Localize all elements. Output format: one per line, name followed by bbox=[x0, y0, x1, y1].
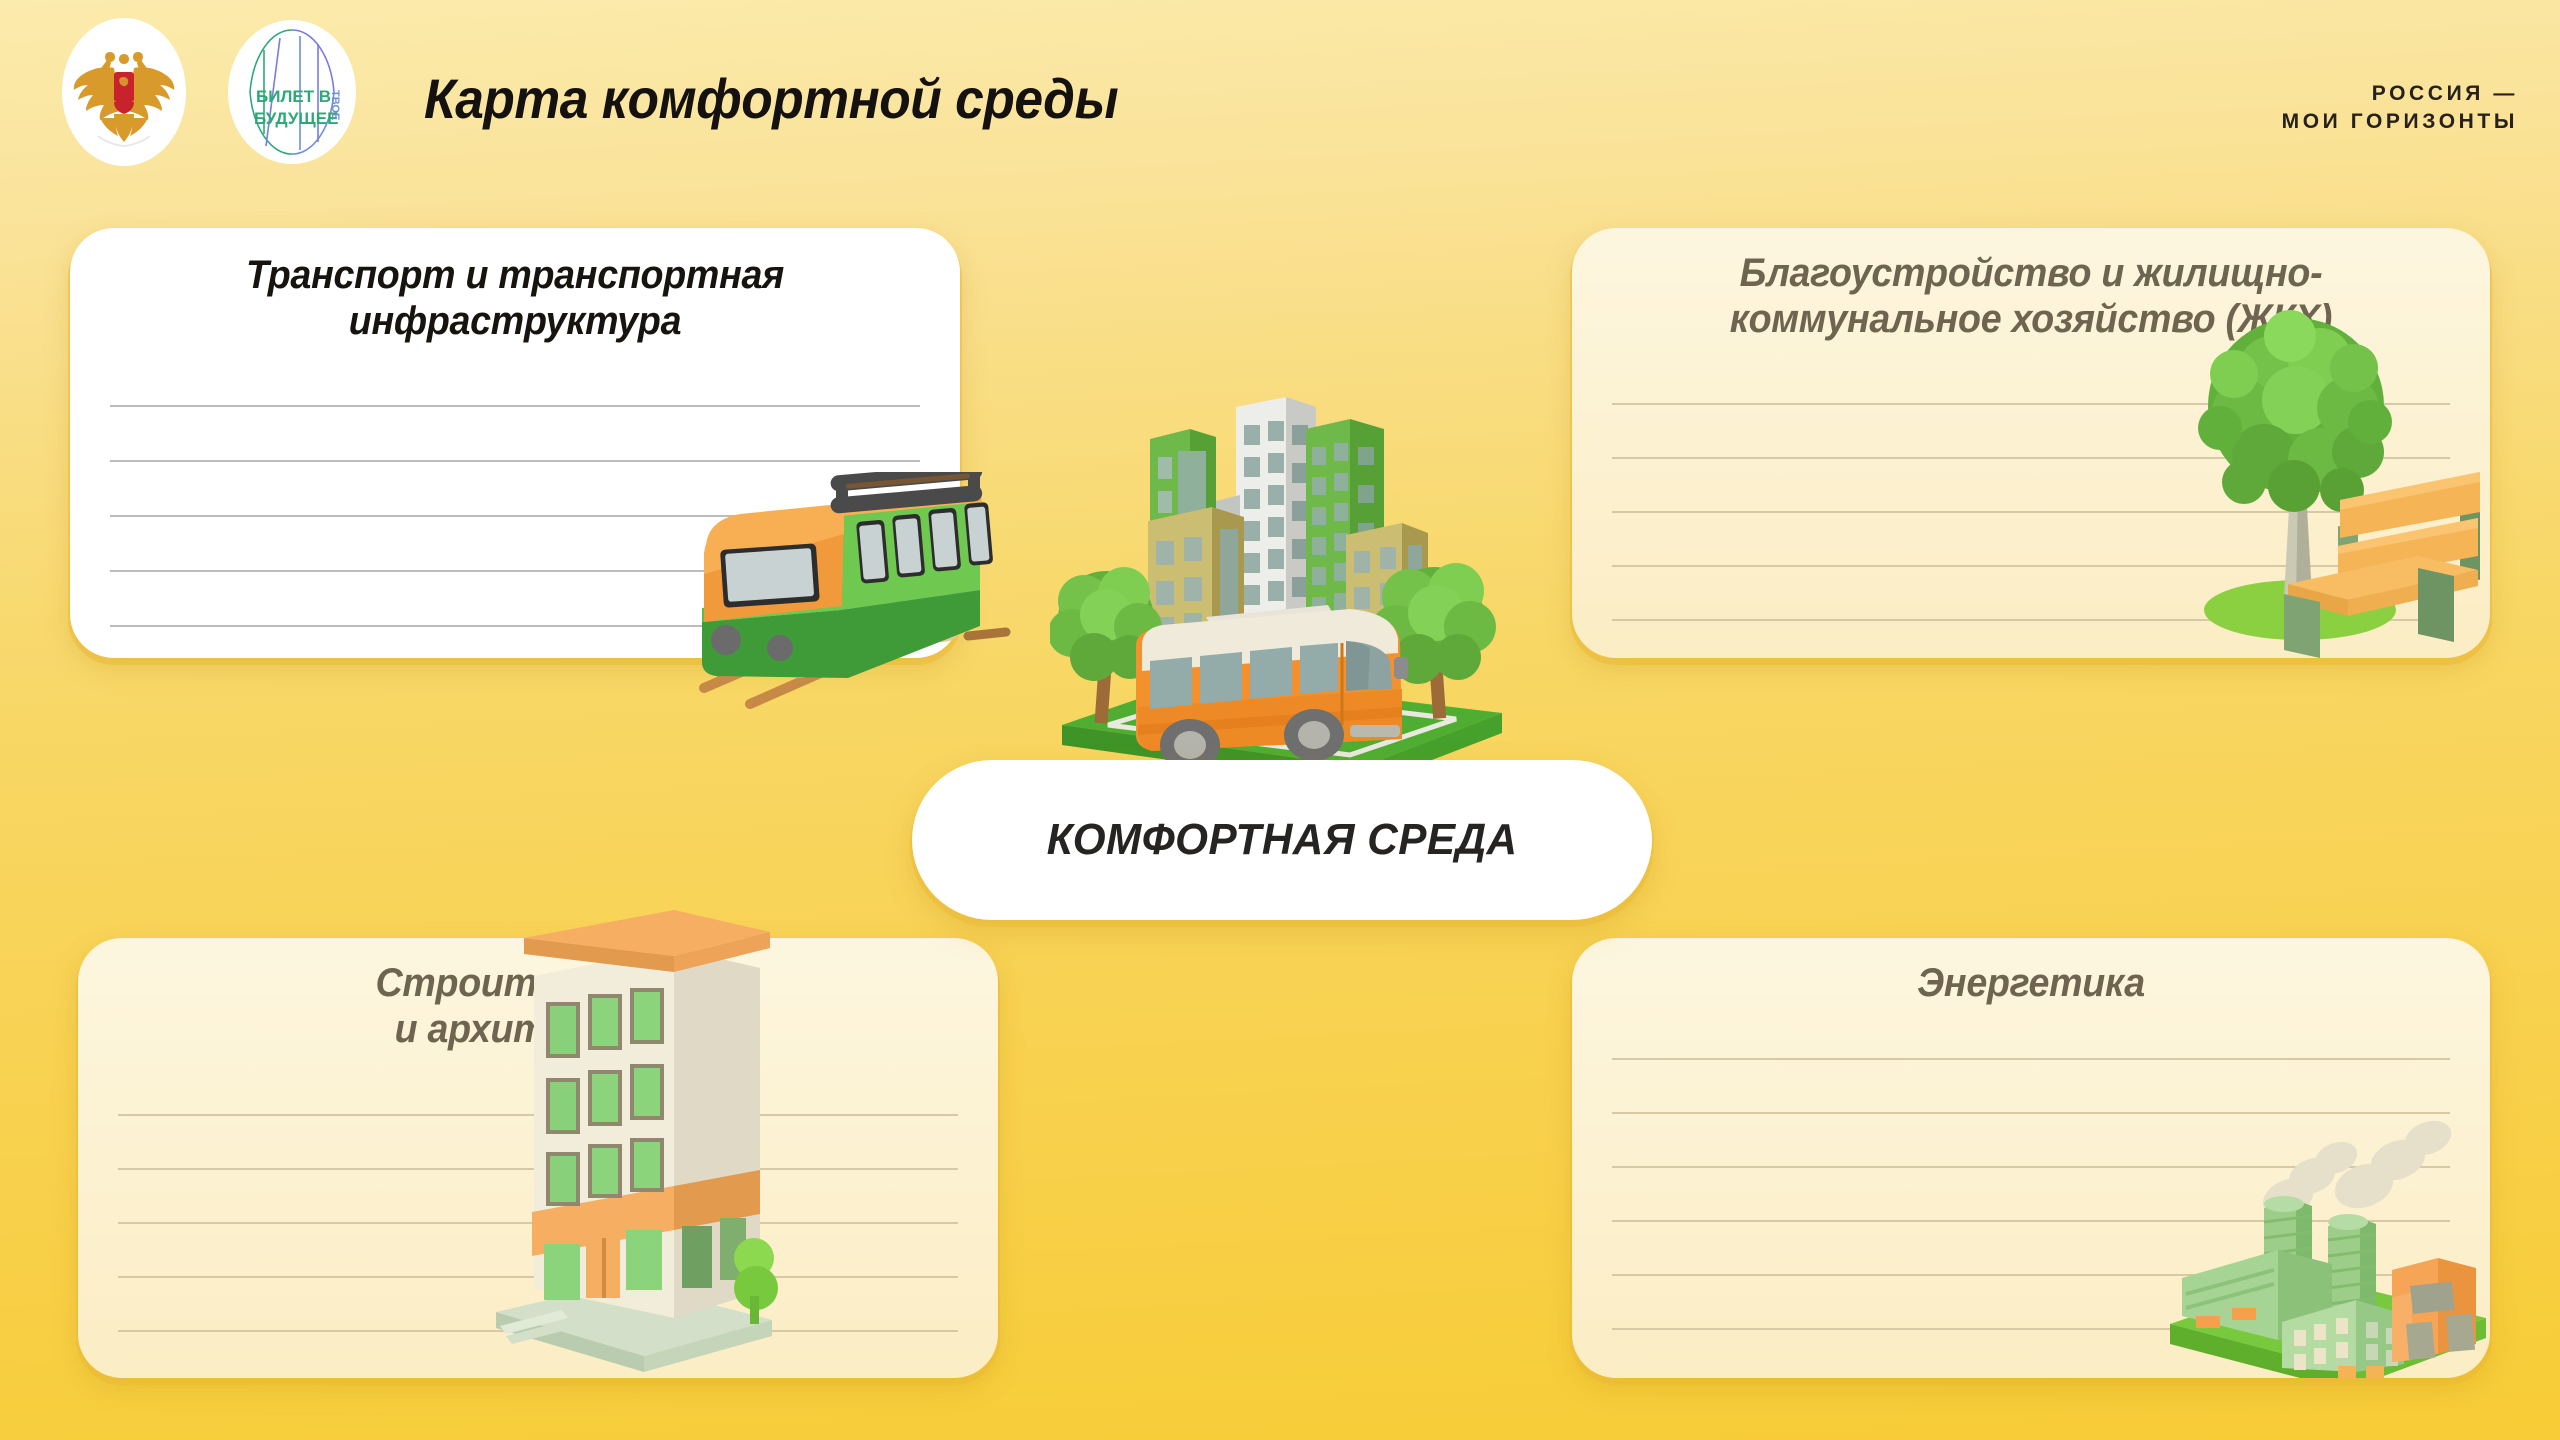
center-label-text: КОМФОРТНАЯ СРЕДА bbox=[1047, 815, 1518, 865]
header-bar: БИЛЕТ В БУДУЩЕЕ ТВОЕ Карта комфортной ср… bbox=[0, 0, 2560, 190]
card-energetika[interactable]: Энергетика bbox=[1572, 938, 2490, 1378]
card-energetika-title: Энергетика bbox=[1600, 960, 2463, 1006]
card-transport[interactable]: Транспорт и транспортная инфраструктура bbox=[70, 228, 960, 658]
tree-and-bench-icon bbox=[2172, 250, 2490, 658]
apartment-building-icon bbox=[476, 826, 796, 1378]
card-energetika-inner: Энергетика bbox=[1572, 938, 2490, 1378]
city-with-bus-illustration bbox=[1050, 395, 1520, 795]
tram-on-rails-icon bbox=[680, 472, 1060, 712]
center-label-pill[interactable]: КОМФОРТНАЯ СРЕДА bbox=[912, 760, 1652, 920]
card-transport-title-line2: инфраструктура bbox=[146, 298, 885, 344]
brand-line-1: РОССИЯ — bbox=[2282, 80, 2518, 108]
card-transport-title-line1: Транспорт и транспортная bbox=[146, 252, 885, 298]
card-blagoustroystvo[interactable]: Благоустройство и жилищно- коммунальное … bbox=[1572, 228, 2490, 658]
card-blagoustroystvo-inner: Благоустройство и жилищно- коммунальное … bbox=[1572, 228, 2490, 658]
card-stroitelstvo[interactable]: Строительство и архитектура bbox=[78, 938, 998, 1378]
bilet-logo-text-line2: БУДУЩЕЕ bbox=[254, 109, 338, 128]
bilet-logo-text-line1: БИЛЕТ В bbox=[256, 87, 331, 106]
page-title: Карта комфортной среды bbox=[424, 66, 1118, 131]
write-line[interactable] bbox=[1612, 1058, 2450, 1060]
card-transport-title: Транспорт и транспортная инфраструктура bbox=[97, 252, 934, 345]
card-energetika-title-line1: Энергетика bbox=[1648, 960, 2413, 1006]
write-line[interactable] bbox=[110, 405, 920, 407]
brand-line-2: МОИ ГОРИЗОНТЫ bbox=[2282, 108, 2518, 136]
poster-canvas: БИЛЕТ В БУДУЩЕЕ ТВОЕ Карта комфортной ср… bbox=[0, 0, 2560, 1440]
power-plant-factory-icon bbox=[2160, 1072, 2490, 1378]
bilet-v-budushchee-logo-icon: БИЛЕТ В БУДУЩЕЕ ТВОЕ bbox=[228, 20, 356, 164]
brand-wordmark: РОССИЯ — МОИ ГОРИЗОНТЫ bbox=[2282, 80, 2518, 136]
write-line[interactable] bbox=[110, 460, 920, 462]
bilet-logo-text-side: ТВОЕ bbox=[329, 90, 341, 120]
russian-federation-emblem-icon bbox=[62, 18, 186, 166]
